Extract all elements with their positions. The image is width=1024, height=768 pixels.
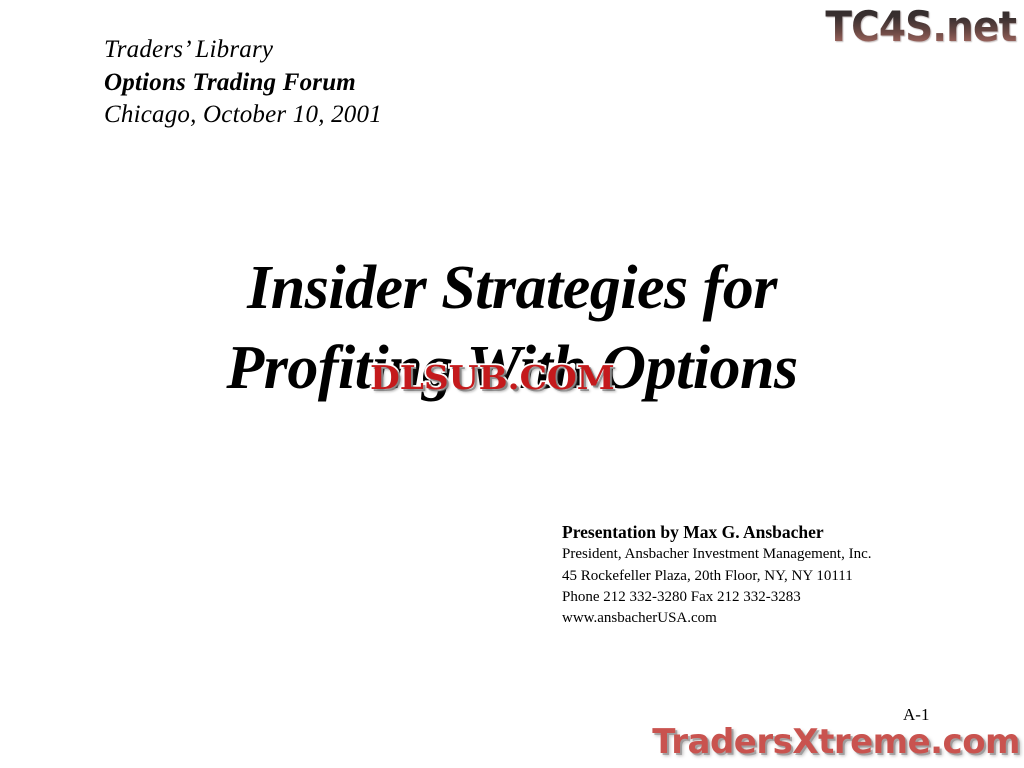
header-line-location-date: Chicago, October 10, 2001 xyxy=(104,99,382,132)
presenter-detail-address: 45 Rockefeller Plaza, 20th Floor, NY, NY… xyxy=(562,566,872,587)
header-line-organization: Traders’ Library xyxy=(104,34,382,67)
header-line-event: Options Trading Forum xyxy=(104,67,382,100)
tc4s-logo: TC4S.net xyxy=(825,2,1016,51)
dlsub-watermark: DLSUB.COM xyxy=(370,358,615,397)
tradersxtreme-logo: TradersXtreme.com xyxy=(652,722,1020,762)
presenter-detail-title: President, Ansbacher Investment Manageme… xyxy=(562,544,872,565)
presentation-slide: Traders’ Library Options Trading Forum C… xyxy=(0,0,1024,768)
presenter-detail-website: www.ansbacherUSA.com xyxy=(562,608,872,629)
presenter-detail-phone: Phone 212 332-3280 Fax 212 332-3283 xyxy=(562,587,872,608)
presenter-name: Presentation by Max G. Ansbacher xyxy=(562,521,872,544)
title-line-1: Insider Strategies for xyxy=(0,248,1024,328)
slide-header: Traders’ Library Options Trading Forum C… xyxy=(104,34,382,132)
presenter-block: Presentation by Max G. Ansbacher Preside… xyxy=(562,521,872,629)
